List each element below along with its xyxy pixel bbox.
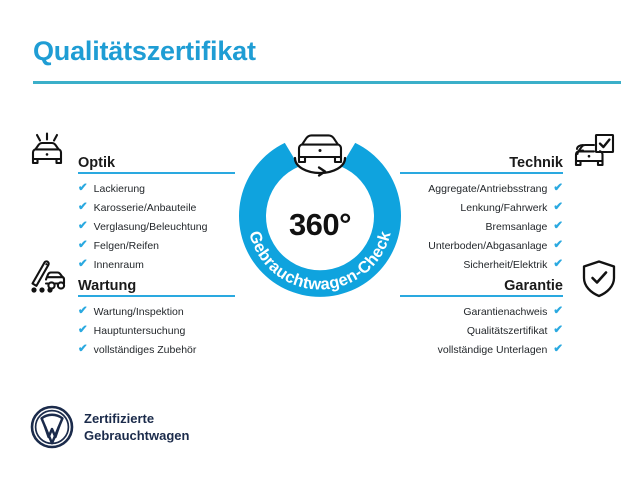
- section-optik: Optik ✔ Lackierung ✔ Karosserie/Anbautei…: [78, 148, 235, 278]
- footer-line-1: Zertifizierte: [84, 410, 189, 427]
- list-item: ✔ Verglasung/Beleuchtung: [78, 221, 235, 233]
- list-item: ✔ Karosserie/Anbauteile: [78, 202, 235, 214]
- footer-brand-text: Zertifizierte Gebrauchtwagen: [84, 410, 189, 444]
- check-icon: ✔: [78, 183, 88, 195]
- check-icon: ✔: [78, 325, 88, 337]
- list-item-label: Aggregate/Antriebsstrang: [428, 184, 547, 195]
- section-title-optik: Optik: [78, 155, 115, 171]
- list-item: ✔ Hauptuntersuchung: [78, 325, 235, 337]
- list-item: ✔ Lackierung: [78, 183, 235, 195]
- list-item-label: Hauptuntersuchung: [94, 326, 186, 337]
- section-header-technik: Technik: [400, 148, 563, 174]
- section-garantie: Garantie ✔ Garantienachweis ✔ Qualitätsz…: [400, 271, 563, 363]
- badge-360-value: 360°: [229, 207, 411, 243]
- check-icon: ✔: [78, 240, 88, 252]
- checklist-garantie: ✔ Garantienachweis ✔ Qualitätszertifikat…: [400, 306, 563, 356]
- check-icon: ✔: [553, 259, 563, 271]
- check-icon: ✔: [553, 202, 563, 214]
- shield-check-icon: [576, 258, 622, 300]
- section-header-garantie: Garantie: [400, 271, 563, 297]
- list-item-label: Lenkung/Fahrwerk: [460, 203, 547, 214]
- check-icon: ✔: [78, 202, 88, 214]
- check-icon: ✔: [78, 306, 88, 318]
- check-icon: ✔: [553, 344, 563, 356]
- list-item: ✔ Innenraum: [78, 259, 235, 271]
- list-item: ✔ Sicherheit/Elektrik: [400, 259, 563, 271]
- car-front-shine-icon: [24, 132, 70, 174]
- check-icon: ✔: [553, 306, 563, 318]
- section-divider-garantie: [400, 295, 563, 298]
- list-item: ✔ Wartung/Inspektion: [78, 306, 235, 318]
- check-icon: ✔: [78, 344, 88, 356]
- list-item-label: Garantienachweis: [463, 307, 547, 318]
- check-icon: ✔: [78, 221, 88, 233]
- list-item-label: Innenraum: [94, 260, 144, 271]
- section-header-optik: Optik: [78, 148, 235, 174]
- car-service-wrench-icon: [24, 255, 70, 297]
- check-icon: ✔: [553, 325, 563, 337]
- list-item: ✔ vollständige Unterlagen: [400, 344, 563, 356]
- checklist-optik: ✔ Lackierung ✔ Karosserie/Anbauteile ✔ V…: [78, 183, 235, 271]
- list-item-label: Bremsanlage: [485, 222, 547, 233]
- section-header-wartung: Wartung: [78, 271, 235, 297]
- list-item-label: Lackierung: [94, 184, 145, 195]
- check-icon: ✔: [78, 259, 88, 271]
- list-item: ✔ Unterboden/Abgasanlage: [400, 240, 563, 252]
- list-item: ✔ Garantienachweis: [400, 306, 563, 318]
- section-divider-wartung: [78, 295, 235, 298]
- certificate-page: Qualitätszertifikat: [0, 0, 640, 480]
- vw-logo-icon: [30, 405, 74, 449]
- list-item-label: Karosserie/Anbauteile: [94, 203, 197, 214]
- list-item: ✔ Qualitätszertifikat: [400, 325, 563, 337]
- section-divider-technik: [400, 172, 563, 175]
- check-icon: ✔: [553, 240, 563, 252]
- car-checkbox-icon: [570, 132, 616, 174]
- page-title: Qualitätszertifikat: [33, 36, 256, 67]
- list-item: ✔ vollständiges Zubehör: [78, 344, 235, 356]
- section-title-garantie: Garantie: [504, 278, 563, 294]
- list-item: ✔ Aggregate/Antriebsstrang: [400, 183, 563, 195]
- list-item-label: Unterboden/Abgasanlage: [428, 241, 547, 252]
- checklist-technik: ✔ Aggregate/Antriebsstrang ✔ Lenkung/Fah…: [400, 183, 563, 271]
- car-rotate-360-icon: [283, 127, 357, 181]
- section-technik: Technik ✔ Aggregate/Antriebsstrang ✔ Len…: [400, 148, 563, 278]
- check-icon: ✔: [553, 183, 563, 195]
- list-item-label: Sicherheit/Elektrik: [463, 260, 547, 271]
- section-wartung: Wartung ✔ Wartung/Inspektion ✔ Hauptunte…: [78, 271, 235, 363]
- footer-line-2: Gebrauchtwagen: [84, 427, 189, 444]
- list-item-label: Wartung/Inspektion: [94, 307, 184, 318]
- list-item-label: vollständige Unterlagen: [438, 345, 548, 356]
- section-title-wartung: Wartung: [78, 278, 136, 294]
- list-item-label: Qualitätszertifikat: [467, 326, 548, 337]
- list-item-label: Verglasung/Beleuchtung: [94, 222, 208, 233]
- check-icon: ✔: [553, 221, 563, 233]
- list-item: ✔ Felgen/Reifen: [78, 240, 235, 252]
- list-item-label: Felgen/Reifen: [94, 241, 159, 252]
- list-item: ✔ Bremsanlage: [400, 221, 563, 233]
- list-item-label: vollständiges Zubehör: [94, 345, 197, 356]
- section-title-technik: Technik: [509, 155, 563, 171]
- title-divider: [33, 81, 621, 84]
- checklist-wartung: ✔ Wartung/Inspektion ✔ Hauptuntersuchung…: [78, 306, 235, 356]
- list-item: ✔ Lenkung/Fahrwerk: [400, 202, 563, 214]
- section-divider-optik: [78, 172, 235, 175]
